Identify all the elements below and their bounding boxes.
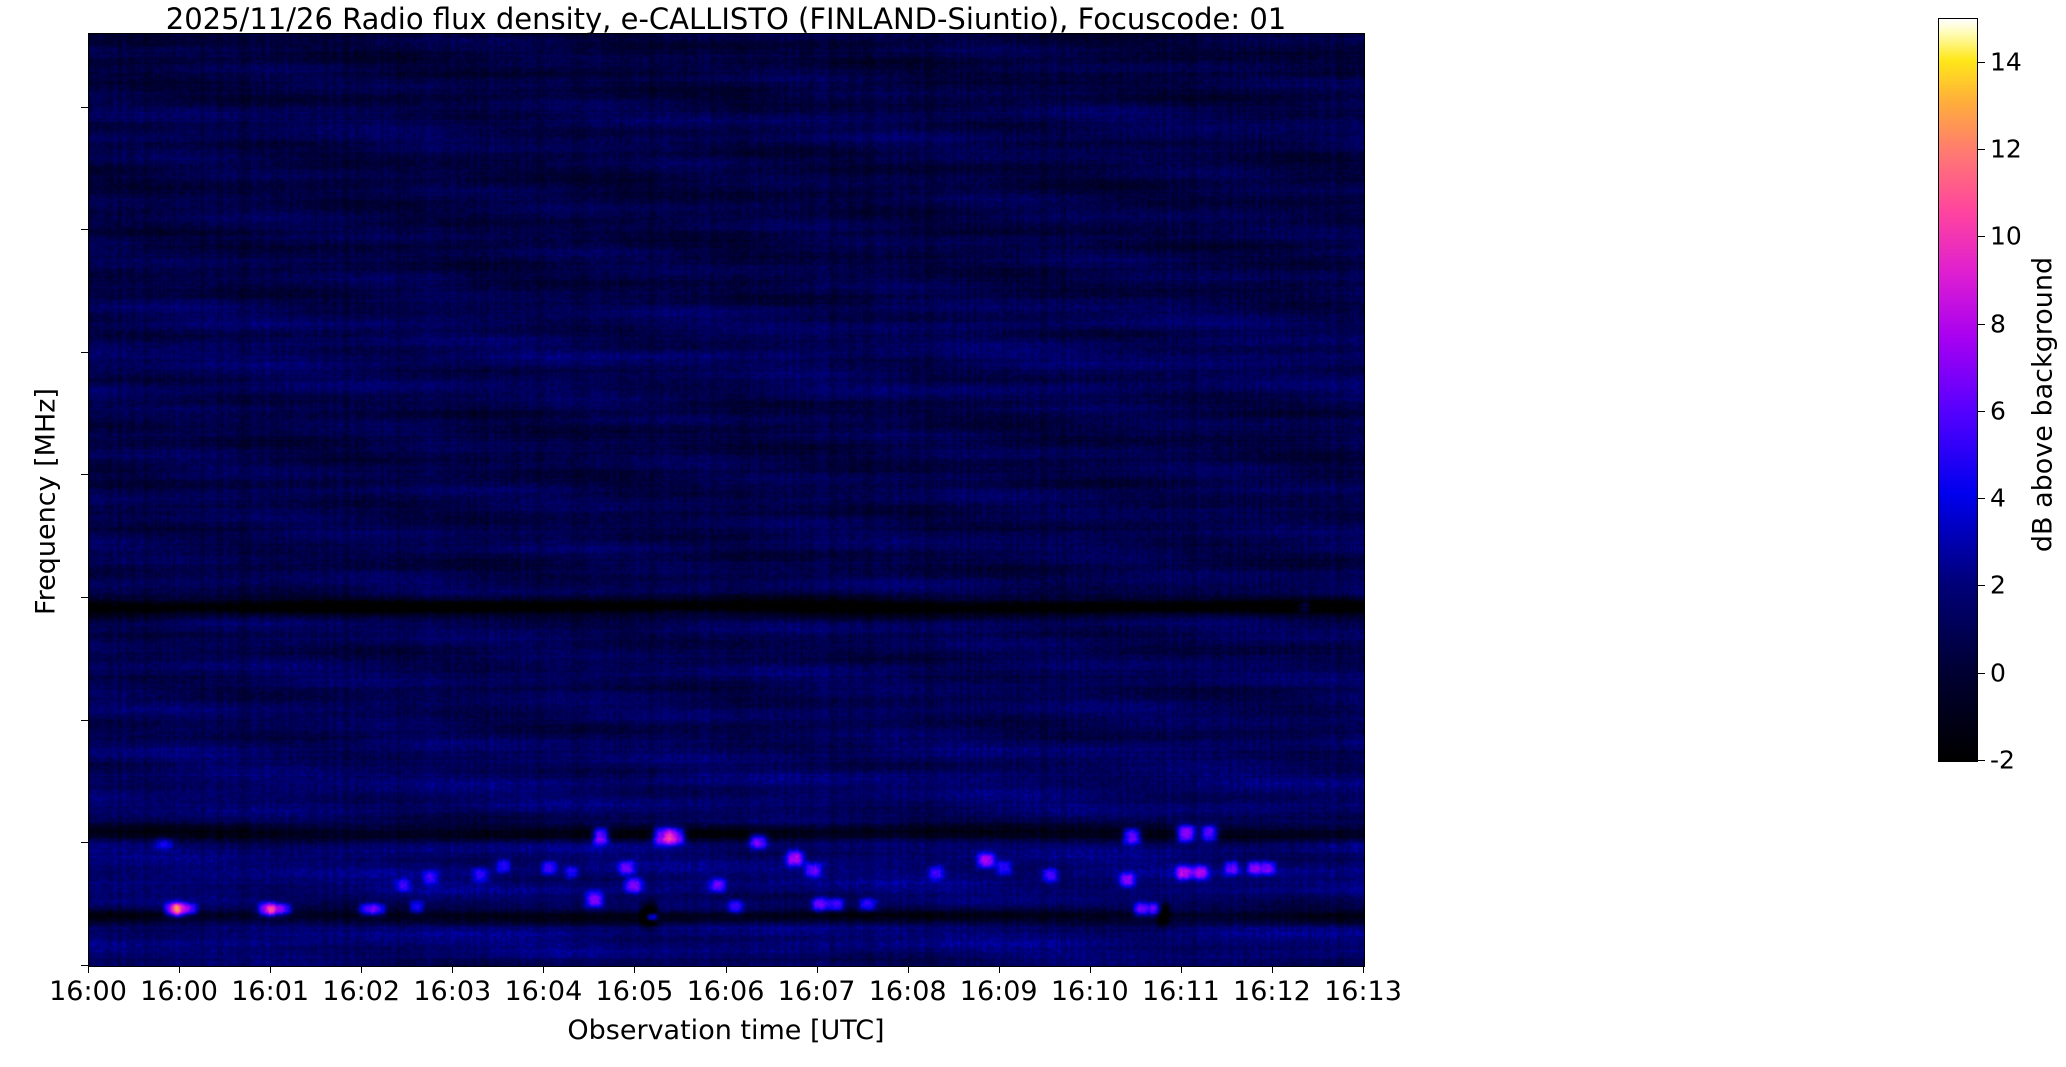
colorbar-tick-mark bbox=[1978, 411, 1985, 412]
spectrogram-figure: 2025/11/26 Radio flux density, e-CALLIST… bbox=[0, 0, 2066, 1067]
colorbar-tick-label: 4 bbox=[1990, 484, 2006, 513]
colorbar-tick-mark bbox=[1978, 236, 1985, 237]
y-tick-mark bbox=[81, 842, 88, 843]
x-axis-label: Observation time [UTC] bbox=[88, 1015, 1364, 1046]
colorbar-tick-mark bbox=[1978, 62, 1985, 63]
x-tick-mark bbox=[1272, 966, 1273, 973]
x-tick-mark bbox=[1090, 966, 1091, 973]
colorbar bbox=[1938, 18, 1978, 762]
x-tick-mark bbox=[1181, 966, 1182, 973]
y-tick-mark bbox=[81, 474, 88, 475]
colorbar-tick-label: 12 bbox=[1990, 134, 2022, 163]
colorbar-tick-label: 10 bbox=[1990, 222, 2022, 251]
y-tick-mark bbox=[81, 597, 88, 598]
colorbar-tick-mark bbox=[1978, 760, 1985, 761]
y-tick-mark bbox=[81, 352, 88, 353]
spectrogram-plot-area[interactable] bbox=[88, 33, 1365, 967]
colorbar-label: dB above background bbox=[2028, 34, 2059, 776]
colorbar-tick-label: 8 bbox=[1990, 309, 2006, 338]
y-tick-mark bbox=[81, 965, 88, 966]
colorbar-tick-mark bbox=[1978, 324, 1985, 325]
x-tick-mark bbox=[179, 966, 180, 973]
colorbar-tick-mark bbox=[1978, 498, 1985, 499]
x-tick-mark bbox=[452, 966, 453, 973]
x-tick-mark bbox=[361, 966, 362, 973]
y-tick-mark bbox=[81, 107, 88, 108]
x-tick-mark bbox=[908, 966, 909, 973]
y-tick-mark bbox=[81, 229, 88, 230]
colorbar-gradient bbox=[1939, 19, 1977, 761]
x-tick-label: 16:13 bbox=[1283, 976, 1443, 1007]
colorbar-tick-label: -2 bbox=[1990, 746, 2015, 775]
colorbar-tick-label: 6 bbox=[1990, 396, 2006, 425]
colorbar-tick-mark bbox=[1978, 673, 1985, 674]
x-tick-mark bbox=[270, 966, 271, 973]
x-tick-mark bbox=[1363, 966, 1364, 973]
colorbar-tick-mark bbox=[1978, 585, 1985, 586]
x-tick-mark bbox=[999, 966, 1000, 973]
x-tick-mark bbox=[543, 966, 544, 973]
spectrogram-heatmap bbox=[89, 34, 1364, 966]
x-tick-mark bbox=[817, 966, 818, 973]
x-tick-mark bbox=[726, 966, 727, 973]
colorbar-tick-label: 0 bbox=[1990, 658, 2006, 687]
page-title: 2025/11/26 Radio flux density, e-CALLIST… bbox=[88, 2, 1364, 36]
x-tick-mark bbox=[634, 966, 635, 973]
colorbar-tick-label: 2 bbox=[1990, 571, 2006, 600]
colorbar-tick-mark bbox=[1978, 149, 1985, 150]
colorbar-tick-label: 14 bbox=[1990, 47, 2022, 76]
y-tick-mark bbox=[81, 720, 88, 721]
x-tick-mark bbox=[88, 966, 89, 973]
y-axis-label: Frequency [MHz] bbox=[31, 36, 62, 968]
